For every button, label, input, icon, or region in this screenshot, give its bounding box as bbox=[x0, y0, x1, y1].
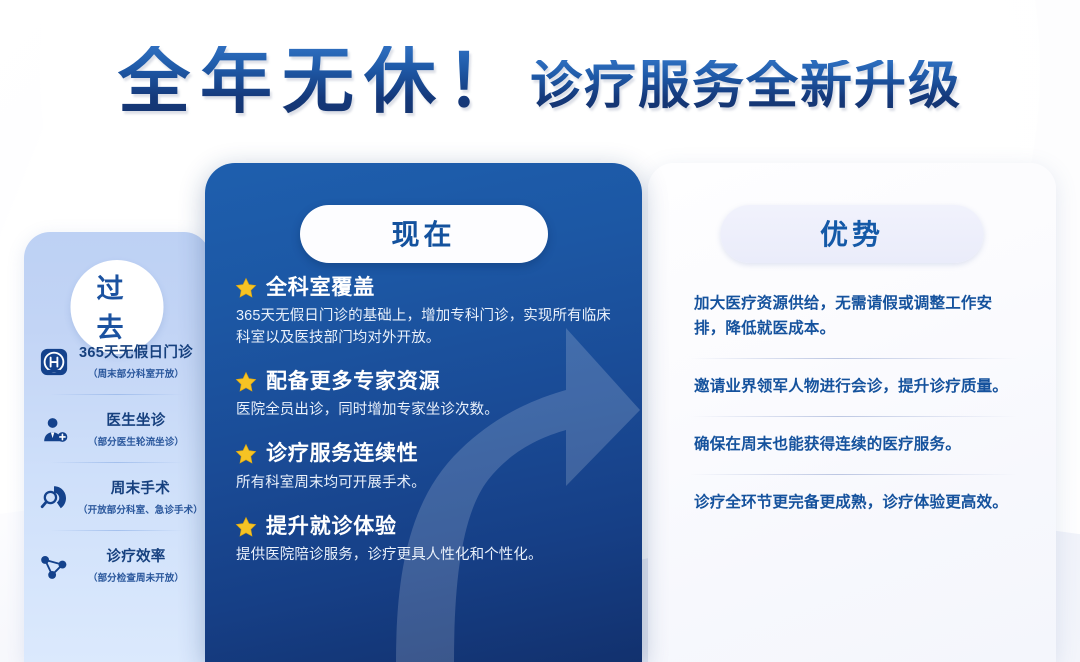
now-item-header: 配备更多专家资源 bbox=[235, 370, 616, 394]
now-item-title: 诊疗服务连续性 bbox=[266, 442, 419, 466]
past-item-title: 周末手术 bbox=[111, 481, 170, 497]
now-panel-pill: 现在 bbox=[300, 205, 548, 263]
doctor-icon bbox=[38, 414, 70, 446]
now-list-item[interactable]: 诊疗服务连续性 所有科室周末均可开展手术。 bbox=[235, 442, 616, 493]
now-panel-pill-label: 现在 bbox=[391, 219, 455, 250]
past-list-item[interactable]: 诊疗效率 （部分检查周未开放） bbox=[24, 532, 210, 600]
now-panel: 现在 全科室覆盖 365天无假日门诊的基础上，增加专科门诊，实现所有临床科室以及… bbox=[205, 163, 642, 662]
page-title-sub: 诊疗服务全新升级 bbox=[530, 60, 962, 112]
hospital-h-icon bbox=[38, 346, 70, 378]
page-title: 全年无休！诊疗服务全新升级 bbox=[0, 46, 1080, 118]
past-item-title: 365天无假日门诊 bbox=[79, 345, 193, 361]
now-item-title: 全科室覆盖 bbox=[266, 276, 375, 300]
past-item-subtitle: （周末部分科室开放） bbox=[78, 366, 194, 380]
past-list-item-text: 365天无假日门诊 （周末部分科室开放） bbox=[78, 344, 198, 379]
advantage-list-item[interactable]: 确保在周末也能获得连续的医疗服务。 bbox=[694, 416, 1012, 474]
past-item-subtitle: （部分检查周未开放） bbox=[78, 570, 194, 584]
advantage-item-text: 确保在周末也能获得连续的医疗服务。 bbox=[694, 432, 1012, 457]
now-item-desc: 365天无假日门诊的基础上，增加专科门诊，实现所有临床科室以及医技部门均对外开放… bbox=[235, 305, 616, 349]
past-panel: 过去 365天无假日门诊 （周末部分科室开放） bbox=[24, 232, 210, 662]
advantage-list-item[interactable]: 加大医疗资源供给，无需请假或调整工作安排，降低就医成本。 bbox=[694, 275, 1012, 358]
page-title-main: 全年无休！ bbox=[118, 46, 528, 118]
past-item-title: 诊疗效率 bbox=[106, 549, 165, 565]
past-list-item[interactable]: 周末手术 （开放部分科室、急诊手术） bbox=[24, 464, 210, 532]
surgery-lamp-icon bbox=[38, 482, 70, 514]
star-icon bbox=[235, 371, 257, 393]
past-list-item-text: 诊疗效率 （部分检查周未开放） bbox=[78, 548, 198, 583]
star-icon bbox=[235, 277, 257, 299]
now-item-desc: 所有科室周末均可开展手术。 bbox=[235, 472, 616, 494]
past-item-title: 医生坐诊 bbox=[106, 413, 165, 429]
advantage-item-text: 加大医疗资源供给，无需请假或调整工作安排，降低就医成本。 bbox=[694, 291, 1012, 341]
advantage-panel: 优势 加大医疗资源供给，无需请假或调整工作安排，降低就医成本。 邀请业界领军人物… bbox=[648, 163, 1056, 662]
network-nodes-icon bbox=[38, 550, 70, 582]
advantage-item-text: 诊疗全环节更完备更成熟，诊疗体验更高效。 bbox=[694, 490, 1012, 515]
past-item-subtitle: （开放部分科室、急诊手术） bbox=[78, 502, 203, 516]
star-icon bbox=[235, 443, 257, 465]
past-list-item[interactable]: 365天无假日门诊 （周末部分科室开放） bbox=[24, 328, 210, 396]
past-list-item-text: 医生坐诊 （部分医生轮流坐诊） bbox=[78, 412, 198, 447]
past-list-item-text: 周末手术 （开放部分科室、急诊手术） bbox=[78, 480, 207, 515]
now-item-list: 全科室覆盖 365天无假日门诊的基础上，增加专科门诊，实现所有临床科室以及医技部… bbox=[205, 276, 642, 566]
now-list-item[interactable]: 全科室覆盖 365天无假日门诊的基础上，增加专科门诊，实现所有临床科室以及医技部… bbox=[235, 276, 616, 349]
now-item-header: 全科室覆盖 bbox=[235, 276, 616, 300]
advantage-panel-pill-label: 优势 bbox=[820, 219, 884, 250]
past-item-subtitle: （部分医生轮流坐诊） bbox=[78, 434, 194, 448]
now-item-title: 提升就诊体验 bbox=[266, 515, 397, 539]
now-item-header: 诊疗服务连续性 bbox=[235, 442, 616, 466]
advantage-item-text: 邀请业界领军人物进行会诊，提升诊疗质量。 bbox=[694, 374, 1012, 399]
now-item-desc: 提供医院陪诊服务，诊疗更具人性化和个性化。 bbox=[235, 544, 616, 566]
advantage-item-list: 加大医疗资源供给，无需请假或调整工作安排，降低就医成本。 邀请业界领军人物进行会… bbox=[648, 275, 1056, 533]
now-item-title: 配备更多专家资源 bbox=[266, 370, 440, 394]
now-item-header: 提升就诊体验 bbox=[235, 515, 616, 539]
advantage-panel-pill: 优势 bbox=[721, 205, 984, 263]
past-item-list: 365天无假日门诊 （周末部分科室开放） 医生坐诊 （部分医生轮流坐诊） bbox=[24, 328, 210, 600]
advantage-list-item[interactable]: 诊疗全环节更完备更成熟，诊疗体验更高效。 bbox=[694, 474, 1012, 532]
star-icon bbox=[235, 516, 257, 538]
now-item-desc: 医院全员出诊，同时增加专家坐诊次数。 bbox=[235, 399, 616, 421]
advantage-list-item[interactable]: 邀请业界领军人物进行会诊，提升诊疗质量。 bbox=[694, 358, 1012, 416]
past-list-item[interactable]: 医生坐诊 （部分医生轮流坐诊） bbox=[24, 396, 210, 464]
now-list-item[interactable]: 配备更多专家资源 医院全员出诊，同时增加专家坐诊次数。 bbox=[235, 370, 616, 421]
now-list-item[interactable]: 提升就诊体验 提供医院陪诊服务，诊疗更具人性化和个性化。 bbox=[235, 515, 616, 566]
